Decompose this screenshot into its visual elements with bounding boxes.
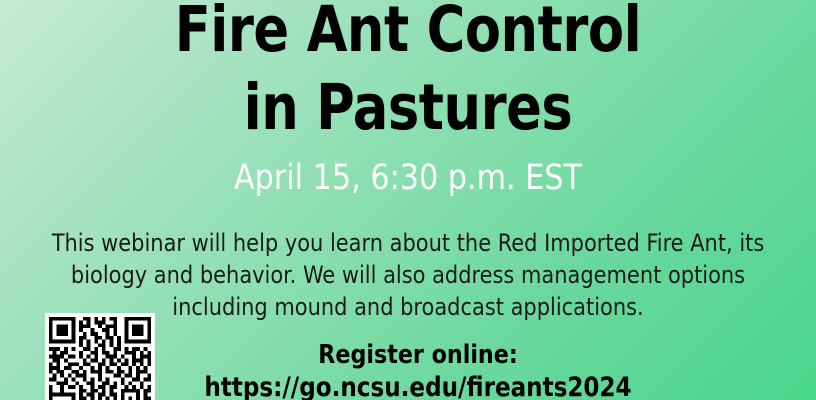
- description-line-2: biology and behavior. We will also addre…: [39, 259, 776, 291]
- register-url-link[interactable]: https://go.ncsu.edu/fireants2024: [154, 371, 682, 400]
- title-line-2: in Pastures: [29, 69, 788, 147]
- qr-code-icon[interactable]: [45, 313, 155, 400]
- register-label: Register online:: [154, 340, 682, 371]
- page-title: Fire Ant Control in Pastures: [0, 0, 816, 147]
- event-description: This webinar will help you learn about t…: [28, 227, 788, 323]
- event-datetime: April 15, 6:30 p.m. EST: [16, 157, 799, 199]
- qr-code-graphic: [45, 313, 155, 400]
- registration-block: Register online: https://go.ncsu.edu/fir…: [140, 340, 696, 400]
- title-line-1: Fire Ant Control: [29, 0, 788, 69]
- description-line-1: This webinar will help you learn about t…: [39, 227, 776, 259]
- webinar-flyer: Fire Ant Control in Pastures April 15, 6…: [0, 0, 816, 400]
